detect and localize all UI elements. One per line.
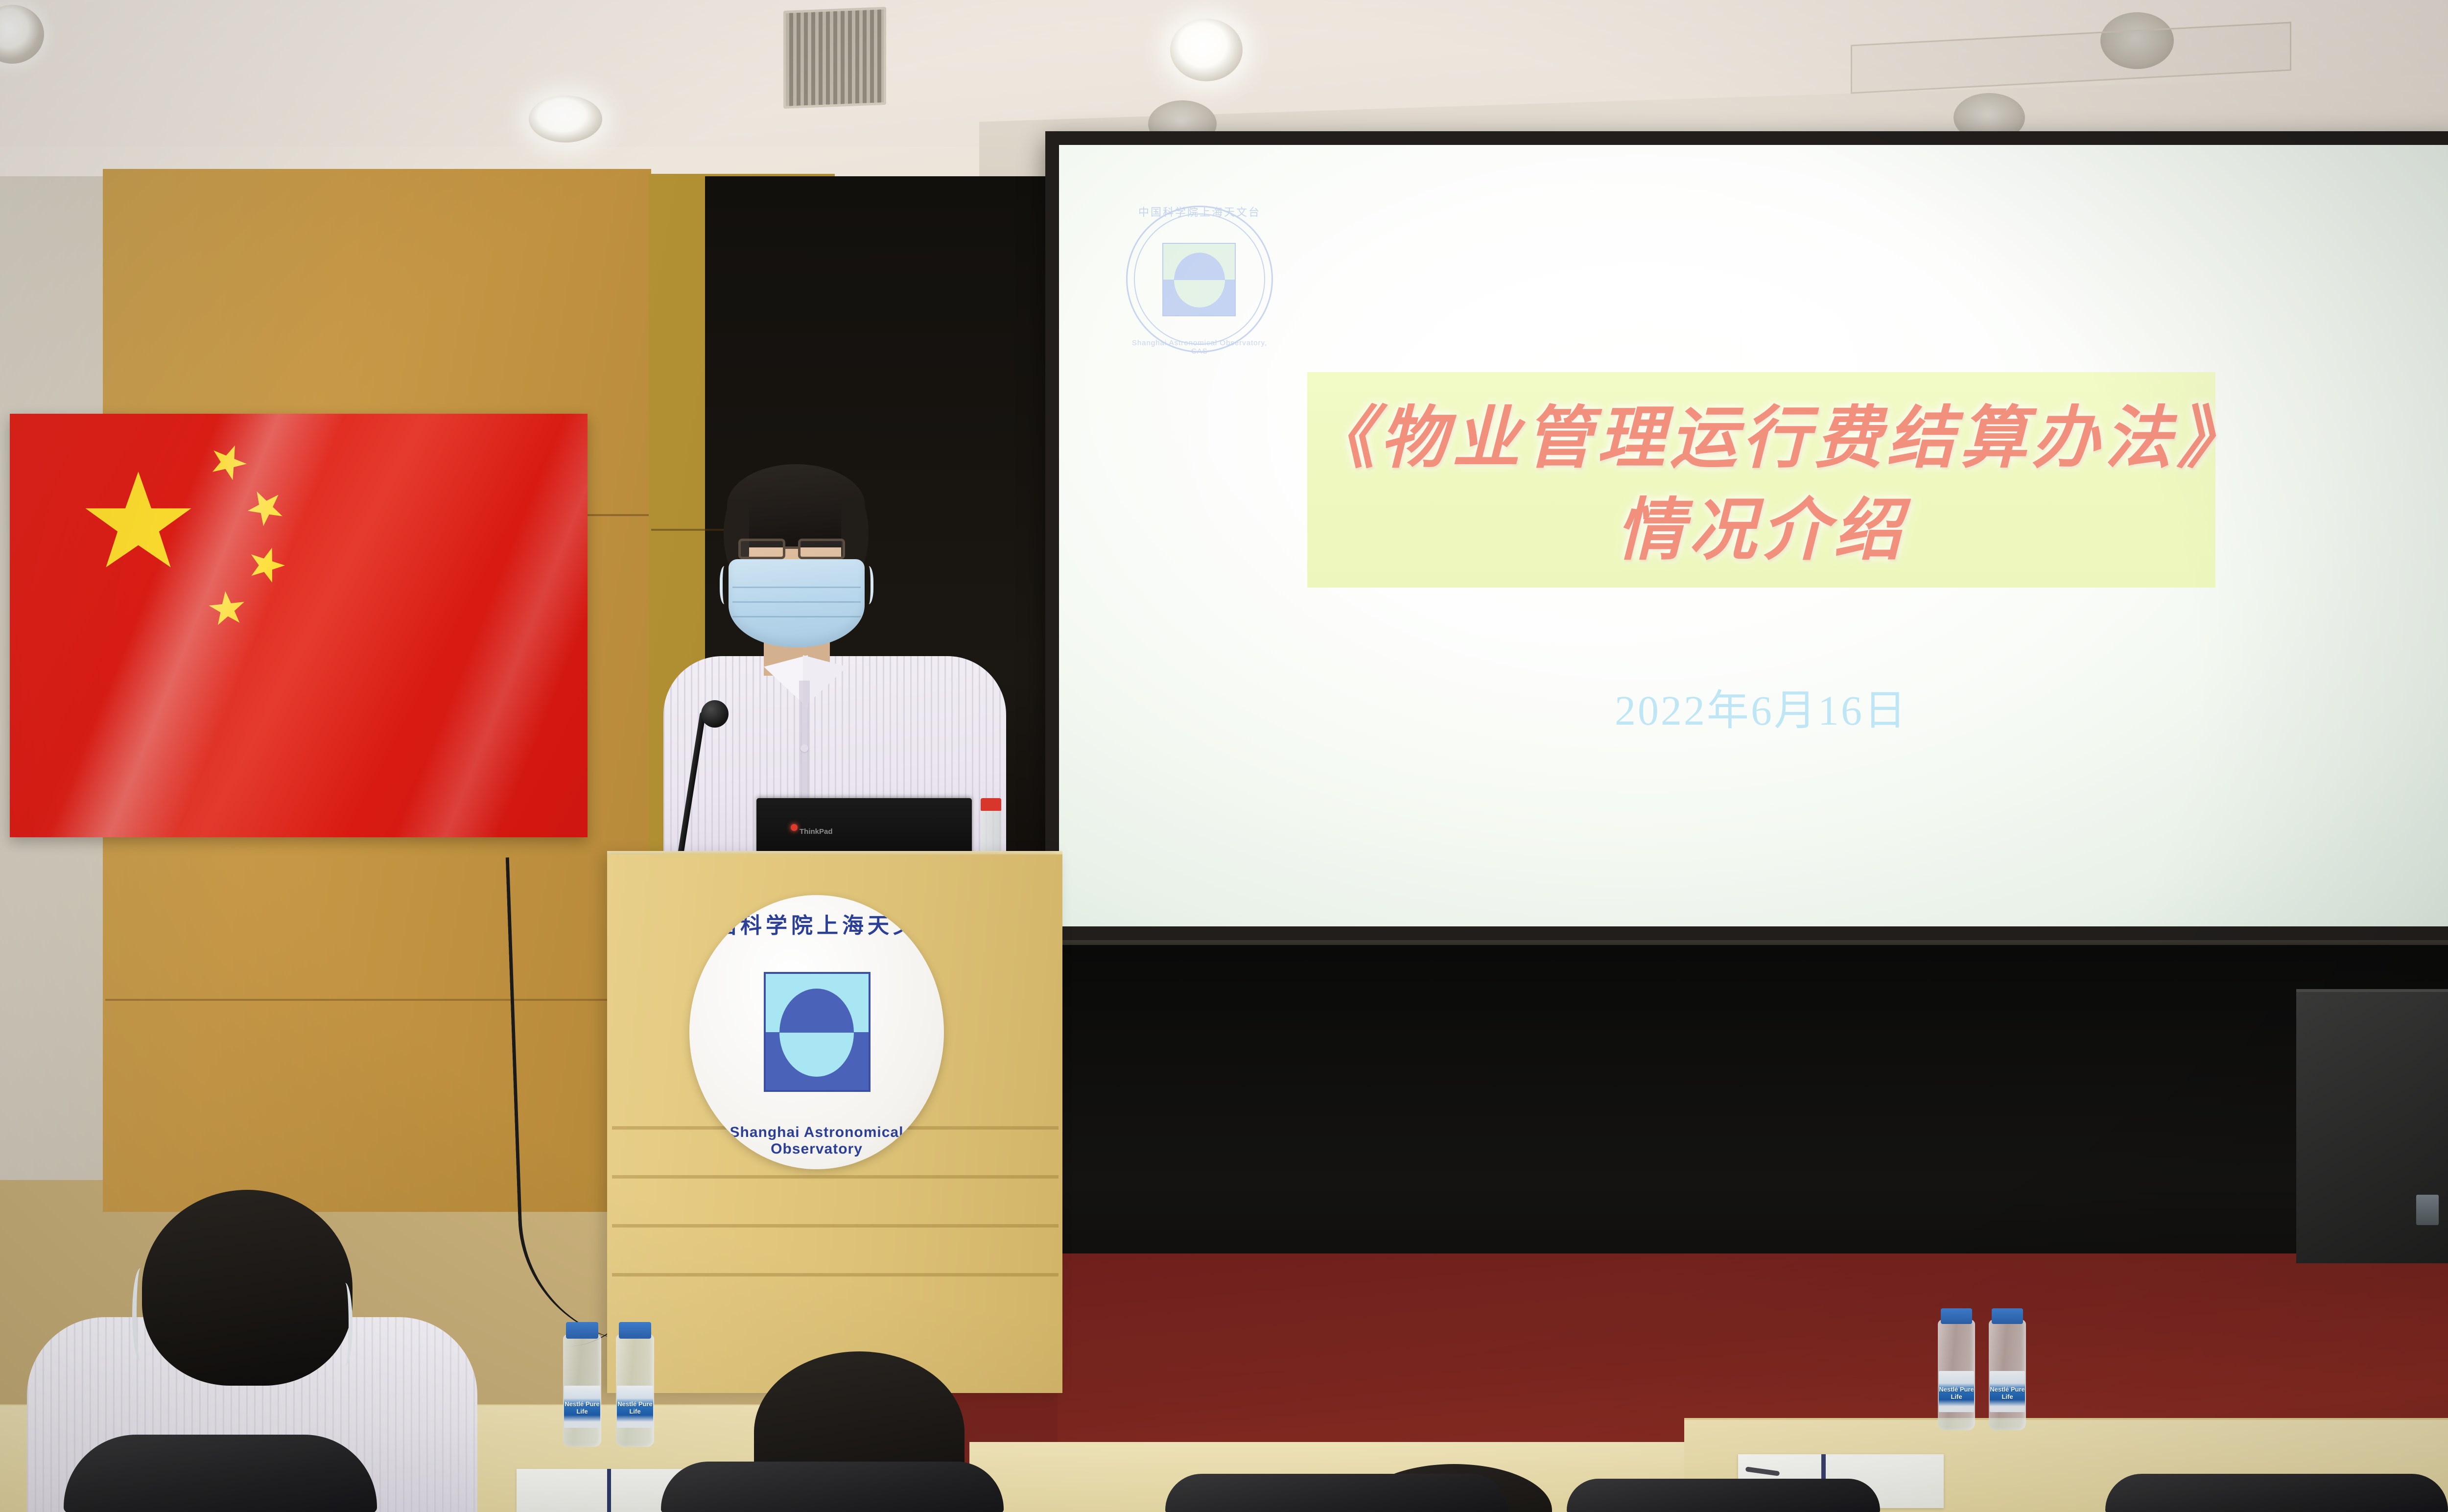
logo-circle	[1174, 253, 1225, 307]
audience-chair	[2105, 1474, 2448, 1512]
water-bottle-label: Nestlé Pure Life	[1990, 1371, 2025, 1412]
slide-title-line-2: 情况介绍	[1307, 475, 2215, 573]
slide-logo-english: Shanghai Astronomical Observatory, CAS	[1126, 339, 1273, 355]
water-bottle-cap	[566, 1322, 598, 1339]
mask-pleat	[732, 616, 861, 617]
recessed-downlight	[529, 95, 602, 142]
stage-backdrop	[1043, 945, 2448, 1283]
slide-title-banner: 《物业管理运行费结算办法》 情况介绍	[1307, 372, 2215, 588]
water-bottle-label: Nestlé Pure Life	[1939, 1371, 1974, 1412]
flag-glare	[10, 414, 588, 837]
mask-ear-loop	[862, 566, 873, 604]
slide-title-line-1: 《物业管理运行费结算办法》	[1307, 383, 2215, 481]
water-bottle-label: Nestlé Pure Life	[564, 1386, 600, 1428]
eyeglasses-bridge	[785, 546, 798, 549]
podium-groove	[612, 1273, 1059, 1276]
laptop-power-led	[791, 824, 798, 831]
face-mask	[729, 559, 865, 647]
podium-emblem-english: Shanghai Astronomical Observatory	[689, 1124, 944, 1158]
audience-chair	[661, 1462, 1004, 1512]
audience-head	[142, 1190, 353, 1386]
podium-emblem-square	[764, 972, 871, 1092]
chinese-national-flag	[10, 414, 588, 837]
mask-ear-loop	[720, 566, 731, 604]
loudspeaker-badge	[2416, 1195, 2439, 1225]
water-bottle-cap	[981, 798, 1001, 811]
podium-emblem-chinese: 中国科学院上海天文台	[689, 908, 944, 939]
podium-emblem-circle	[779, 989, 854, 1077]
slide-date: 2022年6月16日	[1307, 676, 2215, 737]
water-bottle-cap	[619, 1322, 651, 1339]
water-bottle-brand: Nestlé Pure Life	[564, 1400, 600, 1415]
water-bottle-brand: Nestlé Pure Life	[1990, 1386, 2025, 1400]
slide-logo-chinese: 中国科学院上海天文台	[1126, 204, 1273, 219]
gooseneck-microphone-head	[701, 700, 729, 728]
water-bottle-label: Nestlé Pure Life	[617, 1386, 653, 1428]
laptop-brand-label: ThinkPad	[800, 827, 827, 836]
water-bottle-cap	[1941, 1308, 1972, 1324]
eyeglasses-lens-left	[738, 539, 785, 559]
water-bottle-brand: Nestlé Pure Life	[1939, 1386, 1974, 1400]
audience-chair	[1567, 1479, 1880, 1512]
recessed-downlight	[1170, 19, 1243, 81]
podium-groove	[612, 1224, 1059, 1228]
podium-groove	[612, 1175, 1059, 1179]
mask-pleat	[732, 587, 861, 588]
slide-logo: 中国科学院上海天文台 Shanghai Astronomical Observa…	[1126, 206, 1273, 353]
water-bottle-brand: Nestlé Pure Life	[617, 1400, 653, 1415]
audience-chair	[64, 1435, 377, 1512]
mask-ear-loop	[132, 1268, 149, 1361]
water-bottle-cap	[1992, 1308, 2023, 1324]
hvac-vent-grille	[783, 7, 886, 109]
mask-ear-loop	[338, 1283, 353, 1366]
logo-square	[1162, 243, 1236, 316]
notebook-spine	[607, 1469, 611, 1512]
mask-pleat	[732, 601, 861, 603]
shirt-button	[800, 744, 808, 752]
eyeglasses-lens-right	[798, 539, 845, 559]
audience-chair	[1165, 1474, 1508, 1512]
conference-room-photo: 中国科学院上海天文台 Shanghai Astronomical Observa…	[0, 0, 2448, 1512]
